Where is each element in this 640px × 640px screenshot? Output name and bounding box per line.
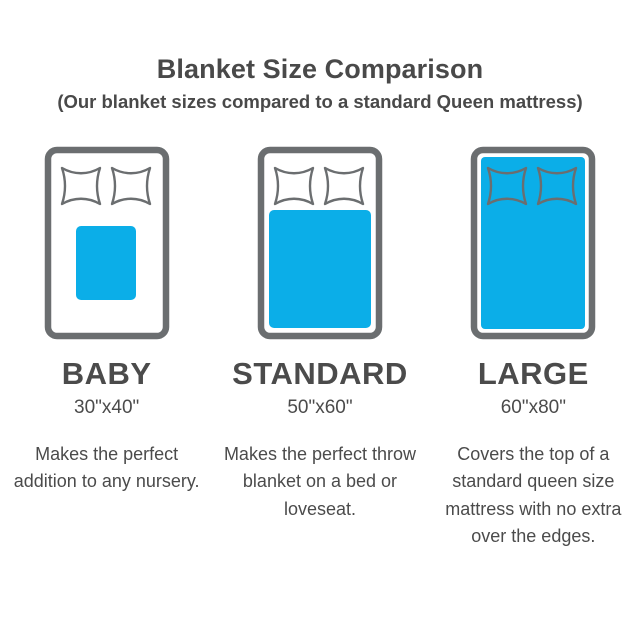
bed-diagram-large (470, 146, 596, 340)
bed-diagram-baby (44, 146, 170, 340)
size-dimensions-standard: 50"x60" (287, 398, 352, 417)
comparison-column-standard: STANDARD 50"x60" Makes the perfect throw… (213, 146, 426, 550)
blanket-icon (76, 226, 136, 300)
pillow-icon-left (62, 168, 100, 204)
size-name-baby: BABY (62, 358, 152, 389)
pillow-icon-right (325, 168, 363, 204)
bed-diagram-standard (257, 146, 383, 340)
comparison-column-large: LARGE 60"x80" Covers the top of a standa… (427, 146, 640, 550)
page-subtitle: (Our blanket sizes compared to a standar… (0, 91, 640, 113)
blanket-size-comparison-infographic: Blanket Size Comparison (Our blanket siz… (0, 0, 640, 640)
size-dimensions-large: 60"x80" (501, 398, 566, 417)
size-description-large: Covers the top of a standard queen size … (435, 441, 631, 550)
size-name-standard: STANDARD (232, 358, 408, 389)
mattress-icon (44, 146, 170, 340)
size-name-large: LARGE (478, 358, 589, 389)
size-description-baby: Makes the perfect addition to any nurser… (9, 441, 205, 496)
comparison-columns: BABY 30"x40" Makes the perfect addition … (0, 146, 640, 550)
page-title: Blanket Size Comparison (0, 54, 640, 85)
mattress-icon (470, 146, 596, 340)
pillow-icon-left (275, 168, 313, 204)
size-description-standard: Makes the perfect throw blanket on a bed… (222, 441, 418, 523)
blanket-icon (269, 210, 371, 328)
pillow-icon-right (112, 168, 150, 204)
header: Blanket Size Comparison (Our blanket siz… (0, 54, 640, 113)
blanket-icon (481, 157, 585, 329)
comparison-column-baby: BABY 30"x40" Makes the perfect addition … (0, 146, 213, 550)
size-dimensions-baby: 30"x40" (74, 398, 139, 417)
mattress-icon (257, 146, 383, 340)
